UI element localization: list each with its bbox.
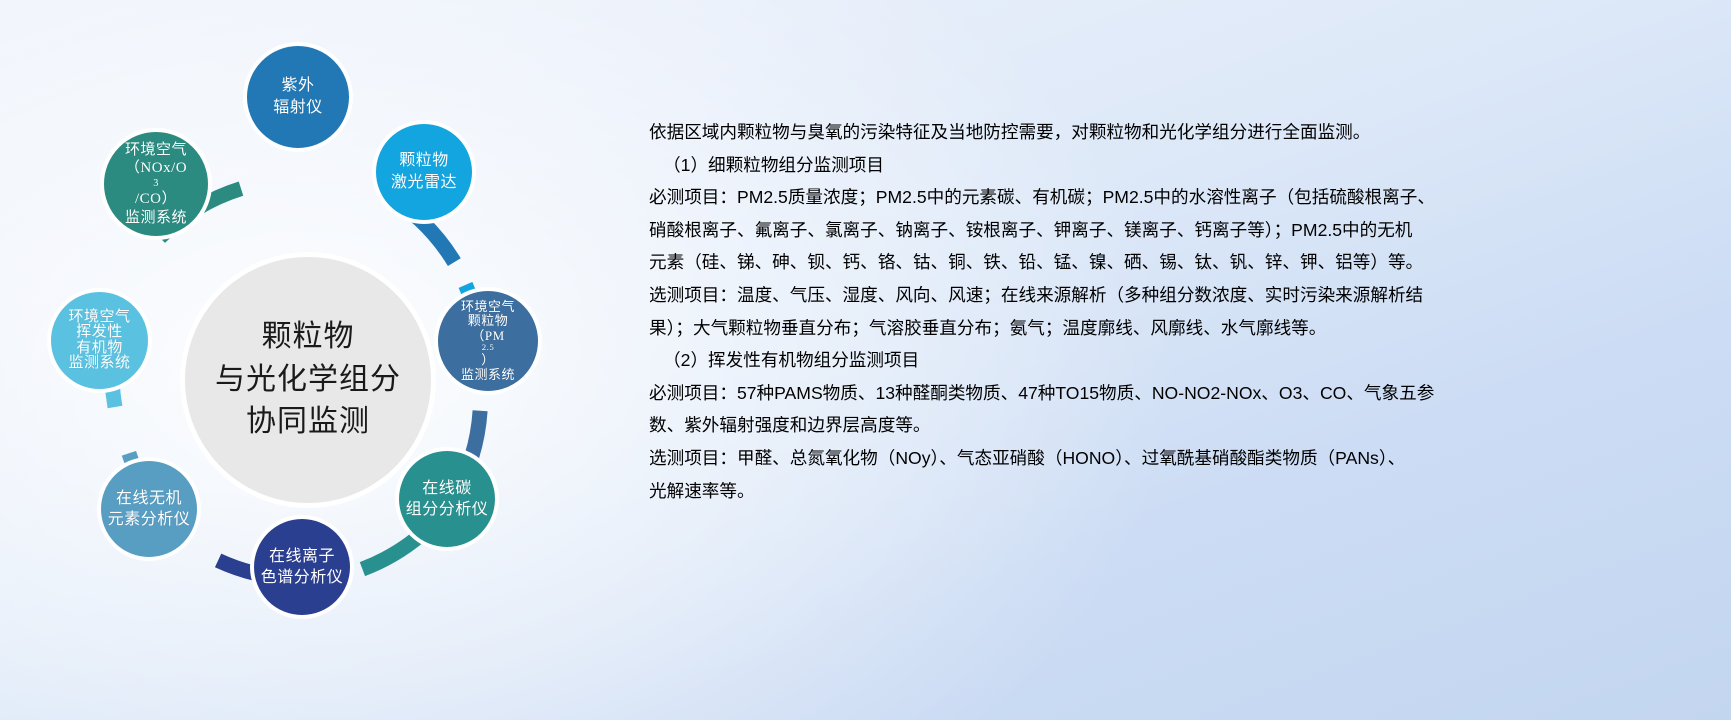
node-carbon-line-2: 组分分析仪	[406, 499, 489, 520]
paragraph-section-2-heading: （2）挥发性有机物组分监测项目	[649, 344, 1587, 377]
paragraph-optional-1-line-1: 选测项目：温度、气压、湿度、风向、风速；在线来源解析（多种组分数浓度、实时污染来…	[649, 279, 1587, 312]
infographic-page: 颗粒物 与光化学组分 协同监测 紫外 辐射仪 颗粒物 激光雷达 环境空气 颗粒物…	[0, 0, 1731, 720]
node-uv-line-1: 紫外	[273, 75, 323, 97]
paragraph-optional-2-line-2: 光解速率等。	[649, 475, 1587, 508]
node-ion-line-1: 在线离子	[261, 546, 344, 567]
paragraph-required-1-line-3: 元素（硅、锑、砷、钡、钙、铬、钴、铜、铁、铅、锰、镍、硒、锡、钛、钒、锌、钾、铝…	[649, 246, 1587, 279]
node-pm25-line-3: （PM2.5）	[461, 329, 515, 368]
node-uv-radiometer[interactable]: 紫外 辐射仪	[243, 42, 353, 152]
paragraph-optional-1-line-2: 果）；大气颗粒物垂直分布；气溶胶垂直分布；氨气；温度廓线、风廓线、水气廓线等。	[649, 312, 1587, 345]
node-ambient-air-vocs-monitoring-system[interactable]: 环境空气 挥发性 有机物 监测系统	[47, 288, 152, 393]
node-nox-line-3: 监测系统	[125, 209, 187, 227]
node-nox-line-2: （NOx/O3/CO）	[125, 159, 187, 208]
node-pm25-line-4: 监测系统	[461, 368, 515, 383]
node-uv-line-2: 辐射仪	[273, 97, 323, 119]
hub-line-3: 协同监测	[246, 401, 370, 444]
paragraph-optional-2-line-1: 选测项目：甲醛、总氮氧化物（NOy）、气态亚硝酸（HONO）、过氧酰基硝酸酯类物…	[649, 442, 1587, 475]
node-lidar-line-1: 颗粒物	[391, 150, 457, 172]
node-nox-line-1: 环境空气	[125, 141, 187, 159]
node-ambient-air-pm25-monitoring-system[interactable]: 环境空气 颗粒物 （PM2.5） 监测系统	[434, 287, 542, 395]
node-pm25-line-2: 颗粒物	[461, 314, 515, 329]
node-carbon-line-1: 在线碳	[406, 478, 489, 499]
circular-diagram: 颗粒物 与光化学组分 协同监测 紫外 辐射仪 颗粒物 激光雷达 环境空气 颗粒物…	[55, 20, 560, 630]
paragraph-intro: 依据区域内颗粒物与臭氧的污染特征及当地防控需要，对颗粒物和光化学组分进行全面监测…	[649, 116, 1587, 149]
node-online-inorganic-element-analyzer[interactable]: 在线无机 元素分析仪	[97, 457, 201, 561]
hub-line-1: 颗粒物	[262, 316, 355, 359]
description-text-block: 依据区域内颗粒物与臭氧的污染特征及当地防控需要，对颗粒物和光化学组分进行全面监测…	[649, 116, 1587, 507]
node-voc-line-2: 挥发性	[68, 325, 130, 340]
node-element-line-2: 元素分析仪	[108, 509, 191, 530]
node-voc-line-3: 有机物	[68, 341, 130, 356]
node-lidar-line-2: 激光雷达	[391, 172, 457, 194]
node-particulate-lidar[interactable]: 颗粒物 激光雷达	[372, 120, 476, 224]
paragraph-section-1-heading: （1）细颗粒物组分监测项目	[649, 149, 1587, 182]
paragraph-required-1-line-1: 必测项目：PM2.5质量浓度；PM2.5中的元素碳、有机碳；PM2.5中的水溶性…	[649, 181, 1587, 214]
node-voc-line-4: 监测系统	[68, 356, 130, 371]
paragraph-required-2-line-2: 数、紫外辐射强度和边界层高度等。	[649, 409, 1587, 442]
node-online-ion-chromatograph[interactable]: 在线离子 色谱分析仪	[250, 515, 354, 619]
paragraph-required-2-line-1: 必测项目：57种PAMS物质、13种醛酮类物质、47种TO15物质、NO-NO2…	[649, 377, 1587, 410]
node-ambient-air-nox-o3-co-monitoring-system[interactable]: 环境空气 （NOx/O3/CO） 监测系统	[100, 128, 212, 240]
node-element-line-1: 在线无机	[108, 488, 191, 509]
paragraph-required-1-line-2: 硝酸根离子、氟离子、氯离子、钠离子、铵根离子、钾离子、镁离子、钙离子等）；PM2…	[649, 214, 1587, 247]
node-ion-line-2: 色谱分析仪	[261, 567, 344, 588]
node-voc-line-1: 环境空气	[68, 310, 130, 325]
node-online-carbon-component-analyzer[interactable]: 在线碳 组分分析仪	[395, 447, 499, 551]
hub-line-2: 与光化学组分	[215, 359, 401, 402]
diagram-hub: 颗粒物 与光化学组分 协同监测	[180, 252, 436, 508]
